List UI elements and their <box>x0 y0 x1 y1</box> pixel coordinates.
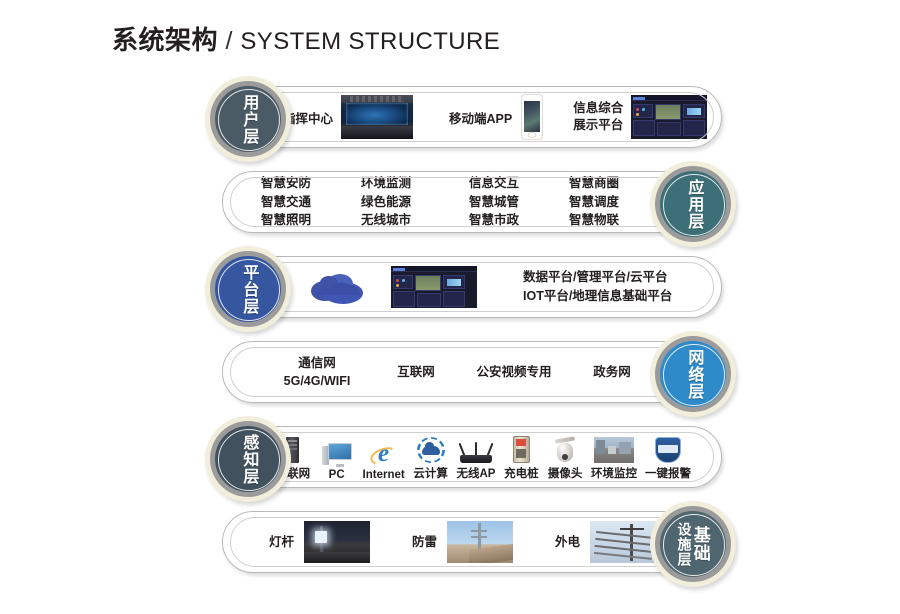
layer-badge-user[interactable]: 用户层 <box>205 76 291 162</box>
charging-pile-icon <box>513 433 530 463</box>
page-title-cn: 系统架构 <box>112 25 218 55</box>
app-column-1: 智慧安防 智慧交通 智慧照明 <box>261 174 361 230</box>
infra-item-label: 防雷 <box>412 533 437 551</box>
platform-text: 数据平台/管理平台/云平台 IOT平台/地理信息基础平台 <box>523 268 672 307</box>
app-column-2: 环境监测 绿色能源 无线城市 <box>361 174 469 230</box>
app-item[interactable]: 无线城市 <box>361 211 469 230</box>
app-column-3: 信息交互 智慧城管 智慧市政 <box>469 174 569 230</box>
user-item-label: 移动端APP <box>449 108 512 127</box>
dashboard-screenshot <box>631 95 707 139</box>
app-item[interactable]: 智慧市政 <box>469 211 569 230</box>
app-item[interactable]: 智慧物联 <box>569 211 619 230</box>
app-item[interactable]: 智慧城管 <box>469 193 569 212</box>
layer-row-network: 通信网 5G/4G/WIFI 互联网 公安视频专用 政务网 APN/VPN <box>0 331 900 417</box>
lightning-protection-photo <box>447 521 513 563</box>
sense-device-one-key-alarm[interactable]: 一键报警 <box>645 433 691 481</box>
layer-badge-platform[interactable]: 平台层 <box>205 246 291 332</box>
user-item-info-platform[interactable]: 信息综合 展示平台 <box>573 95 707 139</box>
layer-row-platform: 数据平台/管理平台/云平台 IOT平台/地理信息基础平台 平台层 <box>0 246 900 332</box>
app-item[interactable]: 智慧照明 <box>261 211 361 230</box>
network-item-line1: 通信网 <box>284 354 351 372</box>
ptz-camera-icon <box>552 433 578 463</box>
app-item[interactable]: 智慧安防 <box>261 174 361 193</box>
app-item[interactable]: 绿色能源 <box>361 193 469 212</box>
app-item[interactable]: 信息交互 <box>469 174 569 193</box>
infra-item-external-power[interactable]: 外电 <box>555 521 656 563</box>
sense-device-label: 摄像头 <box>548 465 583 481</box>
one-key-alarm-icon <box>655 433 681 463</box>
layer-pill-application: 智慧安防 智慧交通 智慧照明 环境监测 绿色能源 无线城市 信息交互 智慧城管 … <box>222 171 722 233</box>
desktop-computer-icon <box>322 437 352 467</box>
layer-badge-label-primary: 基础 <box>691 526 708 562</box>
layer-pill-network: 通信网 5G/4G/WIFI 互联网 公安视频专用 政务网 APN/VPN <box>222 341 722 403</box>
internet-explorer-icon: e <box>371 437 397 467</box>
sense-device-wireless-ap[interactable]: 无线AP <box>456 433 495 481</box>
app-item[interactable]: 智慧交通 <box>261 193 361 212</box>
layer-badge-label-secondary: 设施层 <box>677 522 691 567</box>
sense-device-camera[interactable]: 摄像头 <box>547 433 583 481</box>
dashboard-screenshot <box>391 266 477 308</box>
command-center-photo <box>341 95 413 139</box>
layer-badge-label: 应用层 <box>685 179 702 230</box>
network-item-internet[interactable]: 互联网 <box>373 363 459 381</box>
layer-badge-label: 基础 设施层 <box>677 522 709 567</box>
environment-monitor-photo <box>594 433 634 463</box>
infra-item-label: 灯杆 <box>269 533 294 551</box>
layer-pill-infrastructure: 灯杆 防雷 外电 <box>222 511 722 573</box>
layer-row-sensing: 互联网 PC e Internet <box>0 416 900 502</box>
user-item-label-line2: 展示平台 <box>573 118 623 132</box>
user-item-mobile-app[interactable]: 移动端APP <box>449 94 543 140</box>
page-title: 系统架构 / SYSTEM STRUCTURE <box>112 20 500 57</box>
page-title-en: SYSTEM STRUCTURE <box>240 28 500 55</box>
layer-row-user: 指挥中心 移动端APP 信息综合 展示平台 <box>0 76 900 162</box>
cloud-icon <box>309 269 365 305</box>
network-item-line1: 互联网 <box>397 363 435 381</box>
layer-badge-network[interactable]: 网络层 <box>650 331 736 417</box>
infra-item-label: 外电 <box>555 533 580 551</box>
system-structure-diagram: 系统架构 / SYSTEM STRUCTURE 指挥中心 移动端APP 信息综合… <box>0 0 900 614</box>
layer-badge-label: 平台层 <box>240 264 257 315</box>
sense-device-label: PC <box>329 469 345 481</box>
street-light-pole-photo <box>304 521 370 563</box>
user-item-label: 信息综合 展示平台 <box>573 100 623 134</box>
network-item-line1: 公安视频专用 <box>476 363 551 381</box>
sense-device-label: 环境监控 <box>591 465 637 481</box>
user-item-command-center[interactable]: 指挥中心 <box>283 95 413 139</box>
network-item-line1: 政务网 <box>593 363 631 381</box>
sense-device-pc[interactable]: PC <box>319 437 355 481</box>
infra-item-light-pole[interactable]: 灯杆 <box>269 521 370 563</box>
layer-badge-label: 网络层 <box>685 349 702 400</box>
platform-text-line2: IOT平台/地理信息基础平台 <box>523 287 672 306</box>
app-item[interactable]: 环境监测 <box>361 174 469 193</box>
layer-pill-sensing: 互联网 PC e Internet <box>222 426 722 488</box>
sense-device-label: Internet <box>363 469 405 481</box>
smartphone-photo <box>521 94 543 140</box>
sense-device-charging-pile[interactable]: 充电桩 <box>503 433 539 481</box>
sense-device-label: 云计算 <box>413 465 448 481</box>
layer-badge-application[interactable]: 应用层 <box>650 161 736 247</box>
network-item-police-video[interactable]: 公安视频专用 <box>459 363 569 381</box>
sense-device-label: 一键报警 <box>645 465 691 481</box>
network-item-line2: 5G/4G/WIFI <box>284 372 351 390</box>
wireless-router-icon <box>460 433 492 463</box>
sense-device-label: 无线AP <box>456 465 495 481</box>
sense-device-internet-explorer[interactable]: e Internet <box>363 437 405 481</box>
app-column-4: 智慧商圈 智慧调度 智慧物联 <box>569 174 619 230</box>
layer-row-application: 智慧安防 智慧交通 智慧照明 环境监测 绿色能源 无线城市 信息交互 智慧城管 … <box>0 161 900 247</box>
external-power-photo <box>590 521 656 563</box>
layer-badge-label: 感知层 <box>240 434 257 485</box>
sense-device-label: 充电桩 <box>504 465 539 481</box>
app-item[interactable]: 智慧调度 <box>569 193 619 212</box>
layer-pill-user: 指挥中心 移动端APP 信息综合 展示平台 <box>222 86 722 148</box>
sense-device-cloud-computing[interactable]: 云计算 <box>413 433 449 481</box>
layer-badge-label: 用户层 <box>240 94 257 145</box>
app-item[interactable]: 智慧商圈 <box>569 174 619 193</box>
layer-badge-sensing[interactable]: 感知层 <box>205 416 291 502</box>
layer-pill-platform: 数据平台/管理平台/云平台 IOT平台/地理信息基础平台 <box>222 256 722 318</box>
network-item-government[interactable]: 政务网 <box>569 363 655 381</box>
layer-badge-infrastructure[interactable]: 基础 设施层 <box>650 501 736 587</box>
layer-row-infrastructure: 灯杆 防雷 外电 基础 设施层 <box>0 501 900 587</box>
platform-text-line1: 数据平台/管理平台/云平台 <box>523 268 672 287</box>
infra-item-lightning-protection[interactable]: 防雷 <box>412 521 513 563</box>
user-item-label-line1: 信息综合 <box>573 101 623 115</box>
cloud-computing-icon <box>417 433 445 463</box>
network-item-communication[interactable]: 通信网 5G/4G/WIFI <box>261 354 373 390</box>
page-title-separator: / <box>225 27 232 55</box>
sense-device-environment-monitor[interactable]: 环境监控 <box>591 433 637 481</box>
